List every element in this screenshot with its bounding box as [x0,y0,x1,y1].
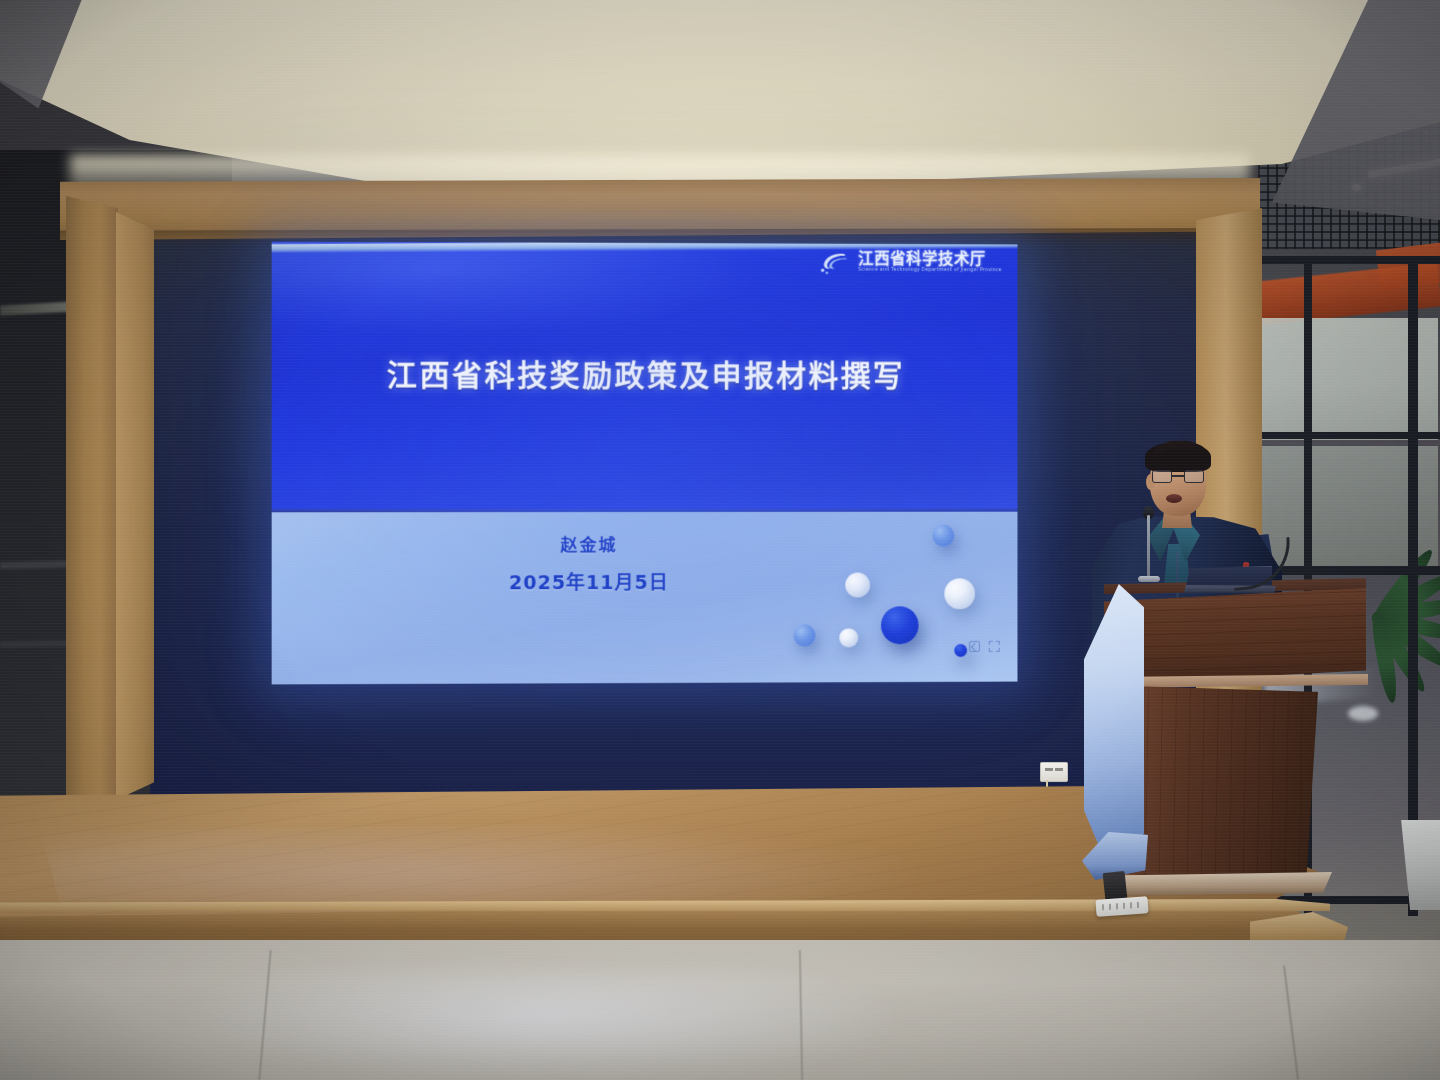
power-outlet[interactable] [1040,762,1068,782]
floor-light-reflection [180,975,900,1080]
slide-control-icons[interactable] [969,641,1000,652]
wood-pillar-left-face [66,196,118,816]
glasses-icon [1152,470,1204,483]
laptop-base [1184,585,1276,593]
palm-plant [1354,490,1440,780]
podium-foot [1108,872,1332,896]
logo-english-text: Science and Technology Department of Jia… [858,269,1001,274]
wood-pillar-left-side [116,212,154,800]
wooden-podium [1086,560,1366,900]
presentation-photo-scene: 江西省科学技术厅 Science and Technology Departme… [0,0,1440,1080]
slide-logo: 江西省科学技术厅 Science and Technology Departme… [818,250,1001,277]
sphere-mid-top-right [932,525,954,547]
podium-glow-panel [1084,584,1144,874]
sphere-light-mid [845,573,870,598]
slide-presenter-date: 2025年11月5日 [423,568,754,596]
sphere-deep-center [881,606,919,644]
sphere-deep-small [954,644,967,657]
presentation-screen[interactable]: 江西省科学技术厅 Science and Technology Departme… [272,242,1018,685]
jiangxi-science-technology-logo-icon [818,250,852,276]
podium-base-grain [1120,686,1318,882]
slide-presenter-block: 赵金城 2025年11月5日 [423,531,754,596]
power-strip[interactable] [1095,896,1148,917]
fullscreen-corners-icon[interactable] [989,641,1000,652]
plug-block [1103,871,1128,901]
sphere-mid-left [794,625,816,647]
logo-chinese-text: 江西省科学技术厅 [858,252,1001,268]
slide-panel-divider [272,509,1018,513]
sphere-light-right [944,578,975,609]
presenter-mouth [1166,494,1182,503]
slide-presenter-name: 赵金城 [423,531,754,556]
slide-title: 江西省科技奖励政策及申报材料撰写 [272,350,1018,395]
sphere-light-small [839,628,858,647]
window-mullion-vertical-2 [1408,256,1418,916]
refresh-icon[interactable] [969,641,980,652]
